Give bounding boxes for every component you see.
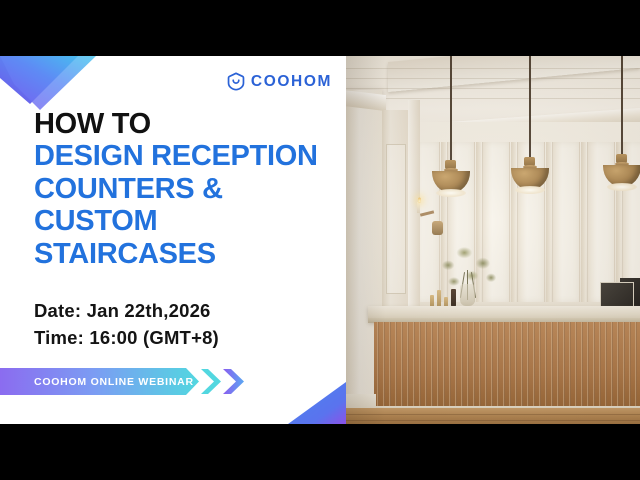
photo-shading: [344, 56, 640, 424]
headline-line-1: HOW TO: [34, 108, 334, 140]
letterbox-top: [0, 0, 640, 56]
coohom-logo[interactable]: COOHOM: [227, 72, 332, 91]
headline-line-4: CUSTOM: [34, 205, 334, 237]
schedule-block: Date: Jan 22th,2026 Time: 16:00 (GMT+8): [34, 298, 219, 352]
lobby-photo: [344, 56, 640, 424]
webinar-time: Time: 16:00 (GMT+8): [34, 325, 219, 352]
poster-canvas: COOHOM HOW TO DESIGN RECEPTION COUNTERS …: [0, 0, 640, 480]
letterbox-bottom: [0, 424, 640, 480]
info-card: COOHOM HOW TO DESIGN RECEPTION COUNTERS …: [0, 56, 346, 424]
chevron-right-icon: [223, 369, 244, 394]
chevron-right-icon: [201, 369, 221, 394]
diagonal-wedge-decor: [280, 382, 346, 424]
ribbon-label: COOHOM ONLINE WEBINAR: [34, 376, 194, 388]
headline-line-5: STAIRCASES: [34, 238, 334, 270]
webinar-date: Date: Jan 22th,2026: [34, 298, 219, 325]
headline-line-3: COUNTERS &: [34, 173, 334, 205]
headline-block: HOW TO DESIGN RECEPTION COUNTERS & CUSTO…: [34, 108, 334, 270]
double-chevron-down-decor: [0, 56, 110, 110]
webinar-ribbon: COOHOM ONLINE WEBINAR: [0, 368, 248, 395]
content-band: COOHOM HOW TO DESIGN RECEPTION COUNTERS …: [0, 56, 640, 424]
coohom-wordmark: COOHOM: [251, 74, 332, 90]
coohom-shield-icon: [227, 72, 245, 91]
headline-line-2: DESIGN RECEPTION: [34, 140, 334, 172]
